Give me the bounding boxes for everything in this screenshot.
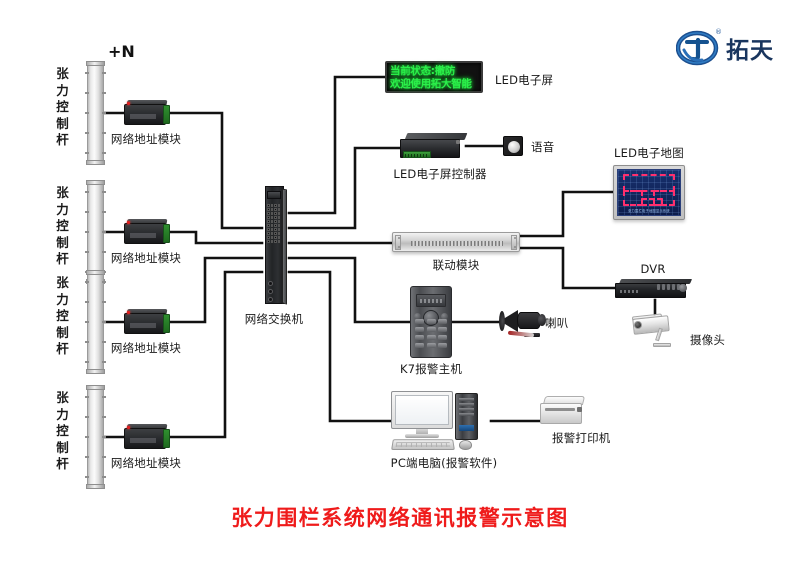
- tension-pole-3: [87, 272, 104, 372]
- diagram-title: 张力围栏系统网络通讯报警示意图: [231, 502, 569, 532]
- pole-label-4: 张力控制杆: [55, 390, 70, 473]
- led-map-label: LED电子地图: [614, 145, 684, 161]
- led-screen-controller: [400, 133, 466, 159]
- network-address-module-4: [124, 424, 170, 450]
- pc-workstation: [391, 391, 491, 453]
- pole-label-1: 张力控制杆: [55, 66, 70, 149]
- pole-label-2: 张力控制杆: [55, 185, 70, 268]
- tension-pole-1: [87, 63, 104, 163]
- k7-alarm-host-label: K7报警主机: [400, 361, 462, 377]
- network-topology-diagram: ® 拓天 +N 张力控制杆 网络地址模块 张力控制杆 网络地址模块 张力控制杆: [0, 0, 800, 579]
- tuotian-logo-icon: ®: [676, 28, 720, 68]
- brand-name: 拓天: [726, 31, 774, 65]
- linkage-module: [392, 232, 520, 252]
- network-address-module-label-4: 网络地址模块: [111, 455, 181, 471]
- tension-pole-2: [87, 182, 104, 282]
- network-address-module-2: [124, 219, 170, 245]
- brand-logo: ® 拓天: [676, 28, 774, 68]
- network-address-module-1: [124, 100, 170, 126]
- horn-speaker-label: 喇叭: [545, 315, 568, 331]
- alarm-printer-label: 报警打印机: [552, 430, 611, 446]
- k7-alarm-host: [410, 286, 452, 358]
- network-address-module-3: [124, 309, 170, 335]
- pole-label-3: 张力控制杆: [55, 275, 70, 358]
- dvr-recorder: [615, 279, 691, 299]
- pc-workstation-label: PC端电脑(报警软件): [391, 455, 498, 471]
- led-screen-controller-label: LED电子屏控制器: [393, 166, 486, 182]
- linkage-module-label: 联动模块: [433, 257, 480, 273]
- led-screen-line-1: 当前状态:撤防: [390, 65, 478, 78]
- trademark-icon: ®: [715, 28, 722, 36]
- led-electronic-map: 张力围栏电子地图显示系统: [613, 165, 685, 220]
- led-display-screen-label: LED电子屏: [495, 72, 553, 88]
- network-address-module-label-1: 网络地址模块: [111, 131, 181, 147]
- led-screen-line-2: 欢迎使用拓大智能: [390, 78, 478, 91]
- cctv-camera: [631, 313, 683, 347]
- tension-pole-4: [87, 387, 104, 487]
- cctv-camera-label: 摄像头: [690, 332, 725, 348]
- voice-speaker: [503, 136, 523, 156]
- network-switch: [262, 186, 287, 304]
- dvr-label: DVR: [640, 262, 665, 276]
- network-address-module-label-3: 网络地址模块: [111, 340, 181, 356]
- plus-n-annotation: +N: [108, 42, 135, 61]
- alarm-printer: [540, 396, 586, 426]
- network-switch-label: 网络交换机: [245, 311, 304, 327]
- led-map-caption: 张力围栏电子地图显示系统: [618, 208, 680, 213]
- led-display-screen: 当前状态:撤防 欢迎使用拓大智能: [385, 61, 483, 93]
- network-address-module-label-2: 网络地址模块: [111, 250, 181, 266]
- voice-label: 语音: [531, 139, 554, 155]
